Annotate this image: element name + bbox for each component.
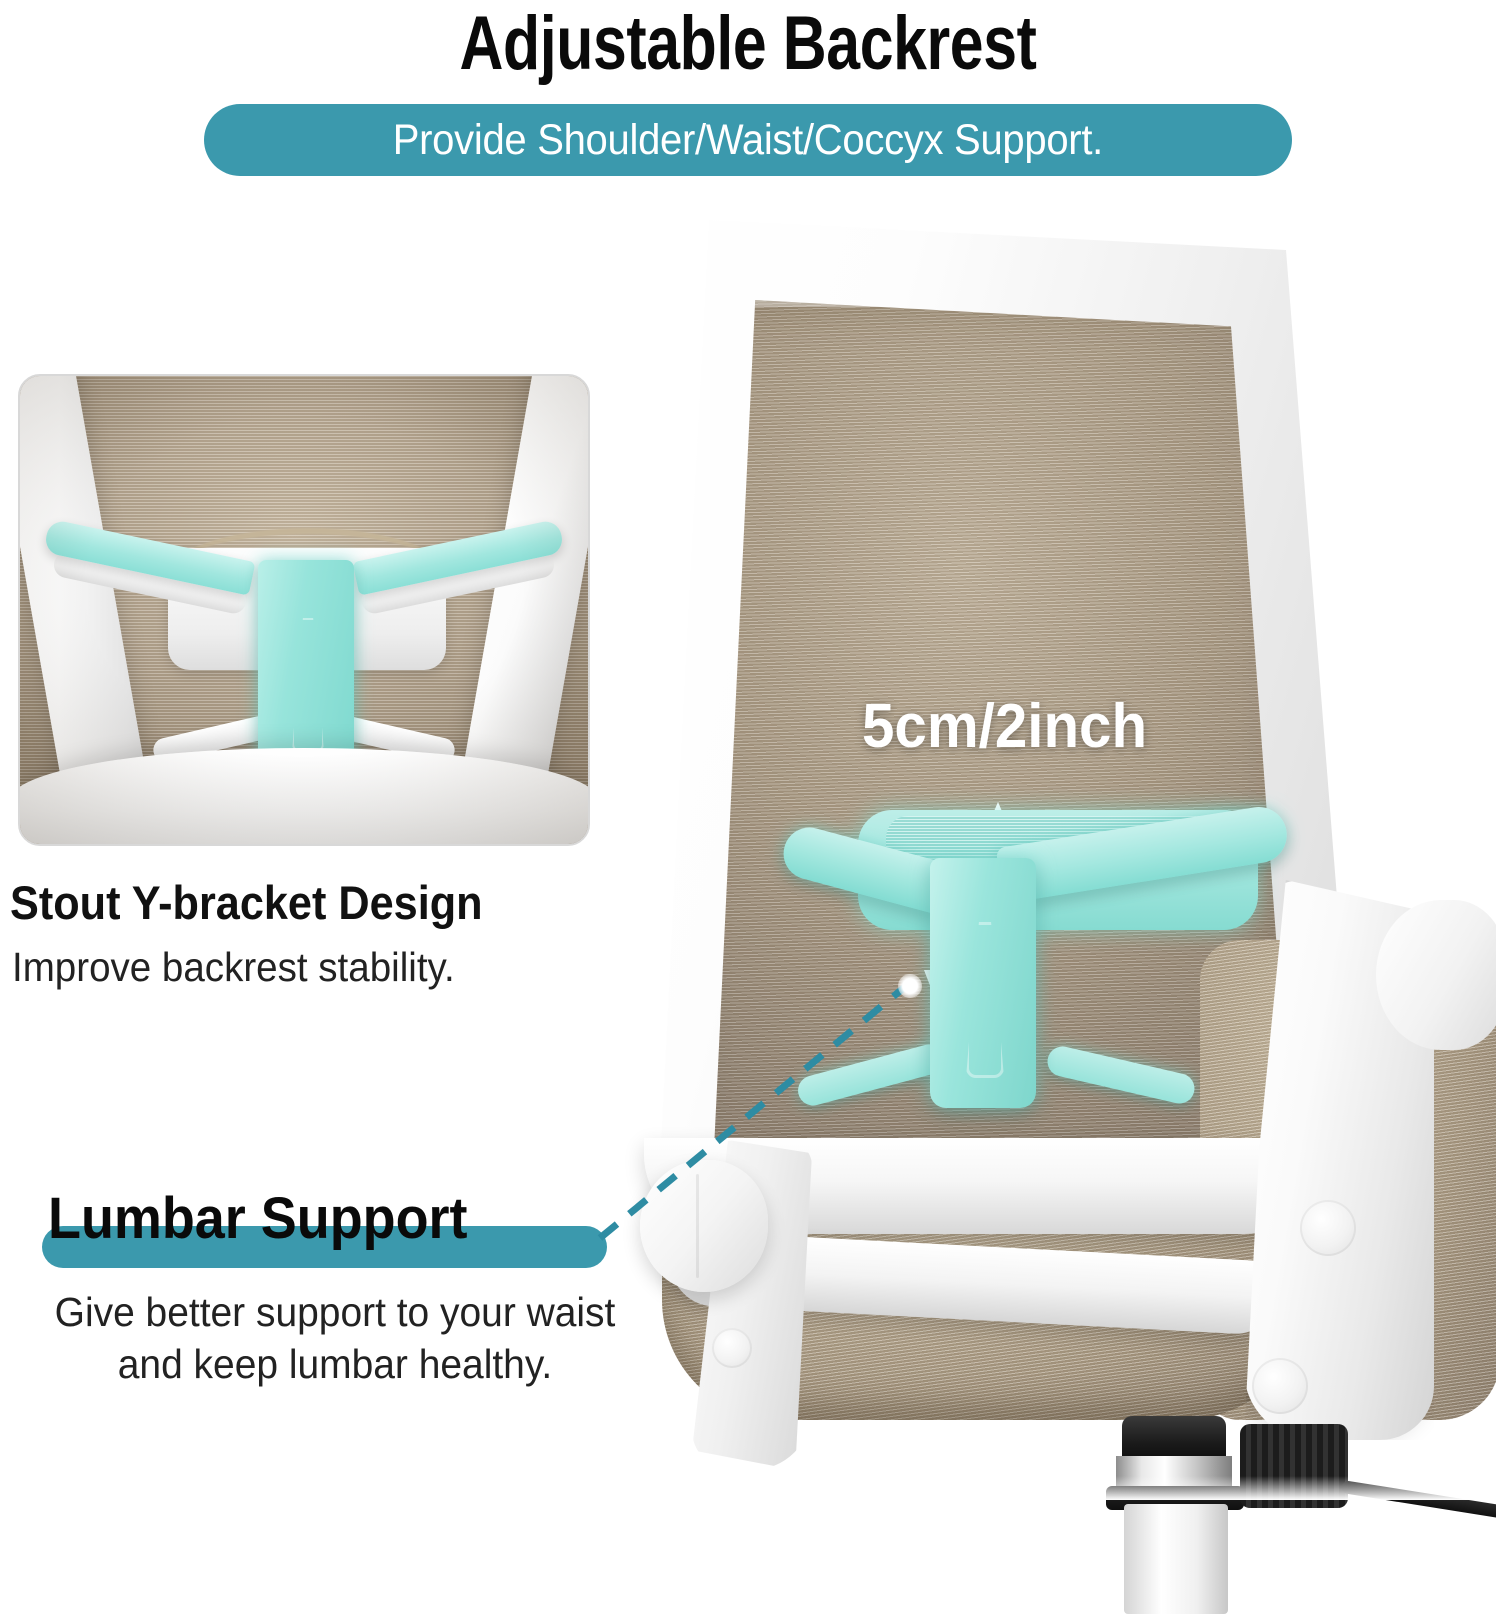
subtitle-pill: Provide Shoulder/Waist/Coccyx Support. bbox=[204, 104, 1292, 176]
screw-cap-2 bbox=[1252, 1358, 1308, 1414]
page-title: Adjustable Backrest bbox=[150, 2, 1347, 86]
gas-cylinder-shaft bbox=[1124, 1504, 1228, 1614]
header-banner: Adjustable Backrest Provide Shoulder/Wai… bbox=[0, 0, 1496, 195]
subtitle-text: Provide Shoulder/Waist/Coccyx Support. bbox=[393, 116, 1103, 165]
lumbar-callout-endpoint-dot bbox=[898, 974, 922, 998]
screw-cap-1 bbox=[1300, 1200, 1356, 1256]
bottom-edge-fade bbox=[0, 1476, 1496, 1500]
inset-vignette bbox=[20, 376, 588, 844]
right-arm-elbow bbox=[1376, 900, 1496, 1050]
feature-heading-y-bracket: Stout Y-bracket Design bbox=[10, 876, 483, 930]
y-bracket-closeup-photo bbox=[18, 374, 590, 846]
feature-heading-lumbar-support: Lumbar Support bbox=[48, 1186, 468, 1252]
feature-description-lumbar-support: Give better support to your waist and ke… bbox=[50, 1286, 620, 1390]
feature-description-y-bracket: Improve backrest stability. bbox=[12, 942, 455, 992]
office-chair-photo: 5cm/2inch bbox=[600, 180, 1496, 1500]
adjustment-range-label: 5cm/2inch bbox=[862, 692, 1147, 762]
screw-cap-3 bbox=[712, 1328, 752, 1368]
feature-lumbar-support: Lumbar Support bbox=[42, 1186, 642, 1276]
tension-knob[interactable] bbox=[640, 1160, 768, 1292]
lumbar-center-block bbox=[930, 858, 1036, 1108]
